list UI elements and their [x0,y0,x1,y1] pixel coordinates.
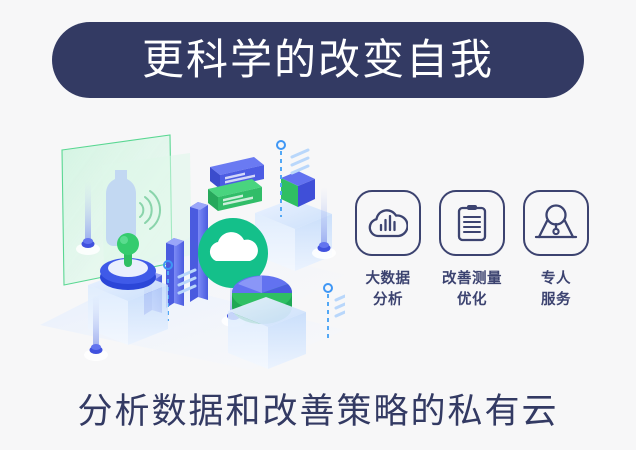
feature-label-big-data-analysis: 大数据 分析 [366,269,411,311]
feature-label-dedicated-service: 专人 服务 [541,269,571,311]
page-title: 更科学的改变自我 [142,39,494,81]
feature-big-data-analysis[interactable]: 大数据 分析 [352,190,424,311]
clipboard-icon [439,190,505,256]
footer-tagline: 分析数据和改善策略的私有云 [77,392,558,431]
cloud-bar-chart-icon [355,190,421,256]
feature-measure-optimize[interactable]: 改善测量 优化 [436,190,508,311]
illustration [40,125,345,370]
support-agent-icon [523,190,589,256]
feature-dedicated-service[interactable]: 专人 服务 [520,190,592,311]
poster-root: 更科学的改变自我 [0,0,636,450]
footer-tagline-wrap: 分析数据和改善策略的私有云 [0,383,636,434]
feature-label-measure-optimize: 改善测量 优化 [442,269,502,311]
feature-list: 大数据 分析 改善测量 优化 [352,190,592,340]
title-banner: 更科学的改变自我 [52,22,584,98]
